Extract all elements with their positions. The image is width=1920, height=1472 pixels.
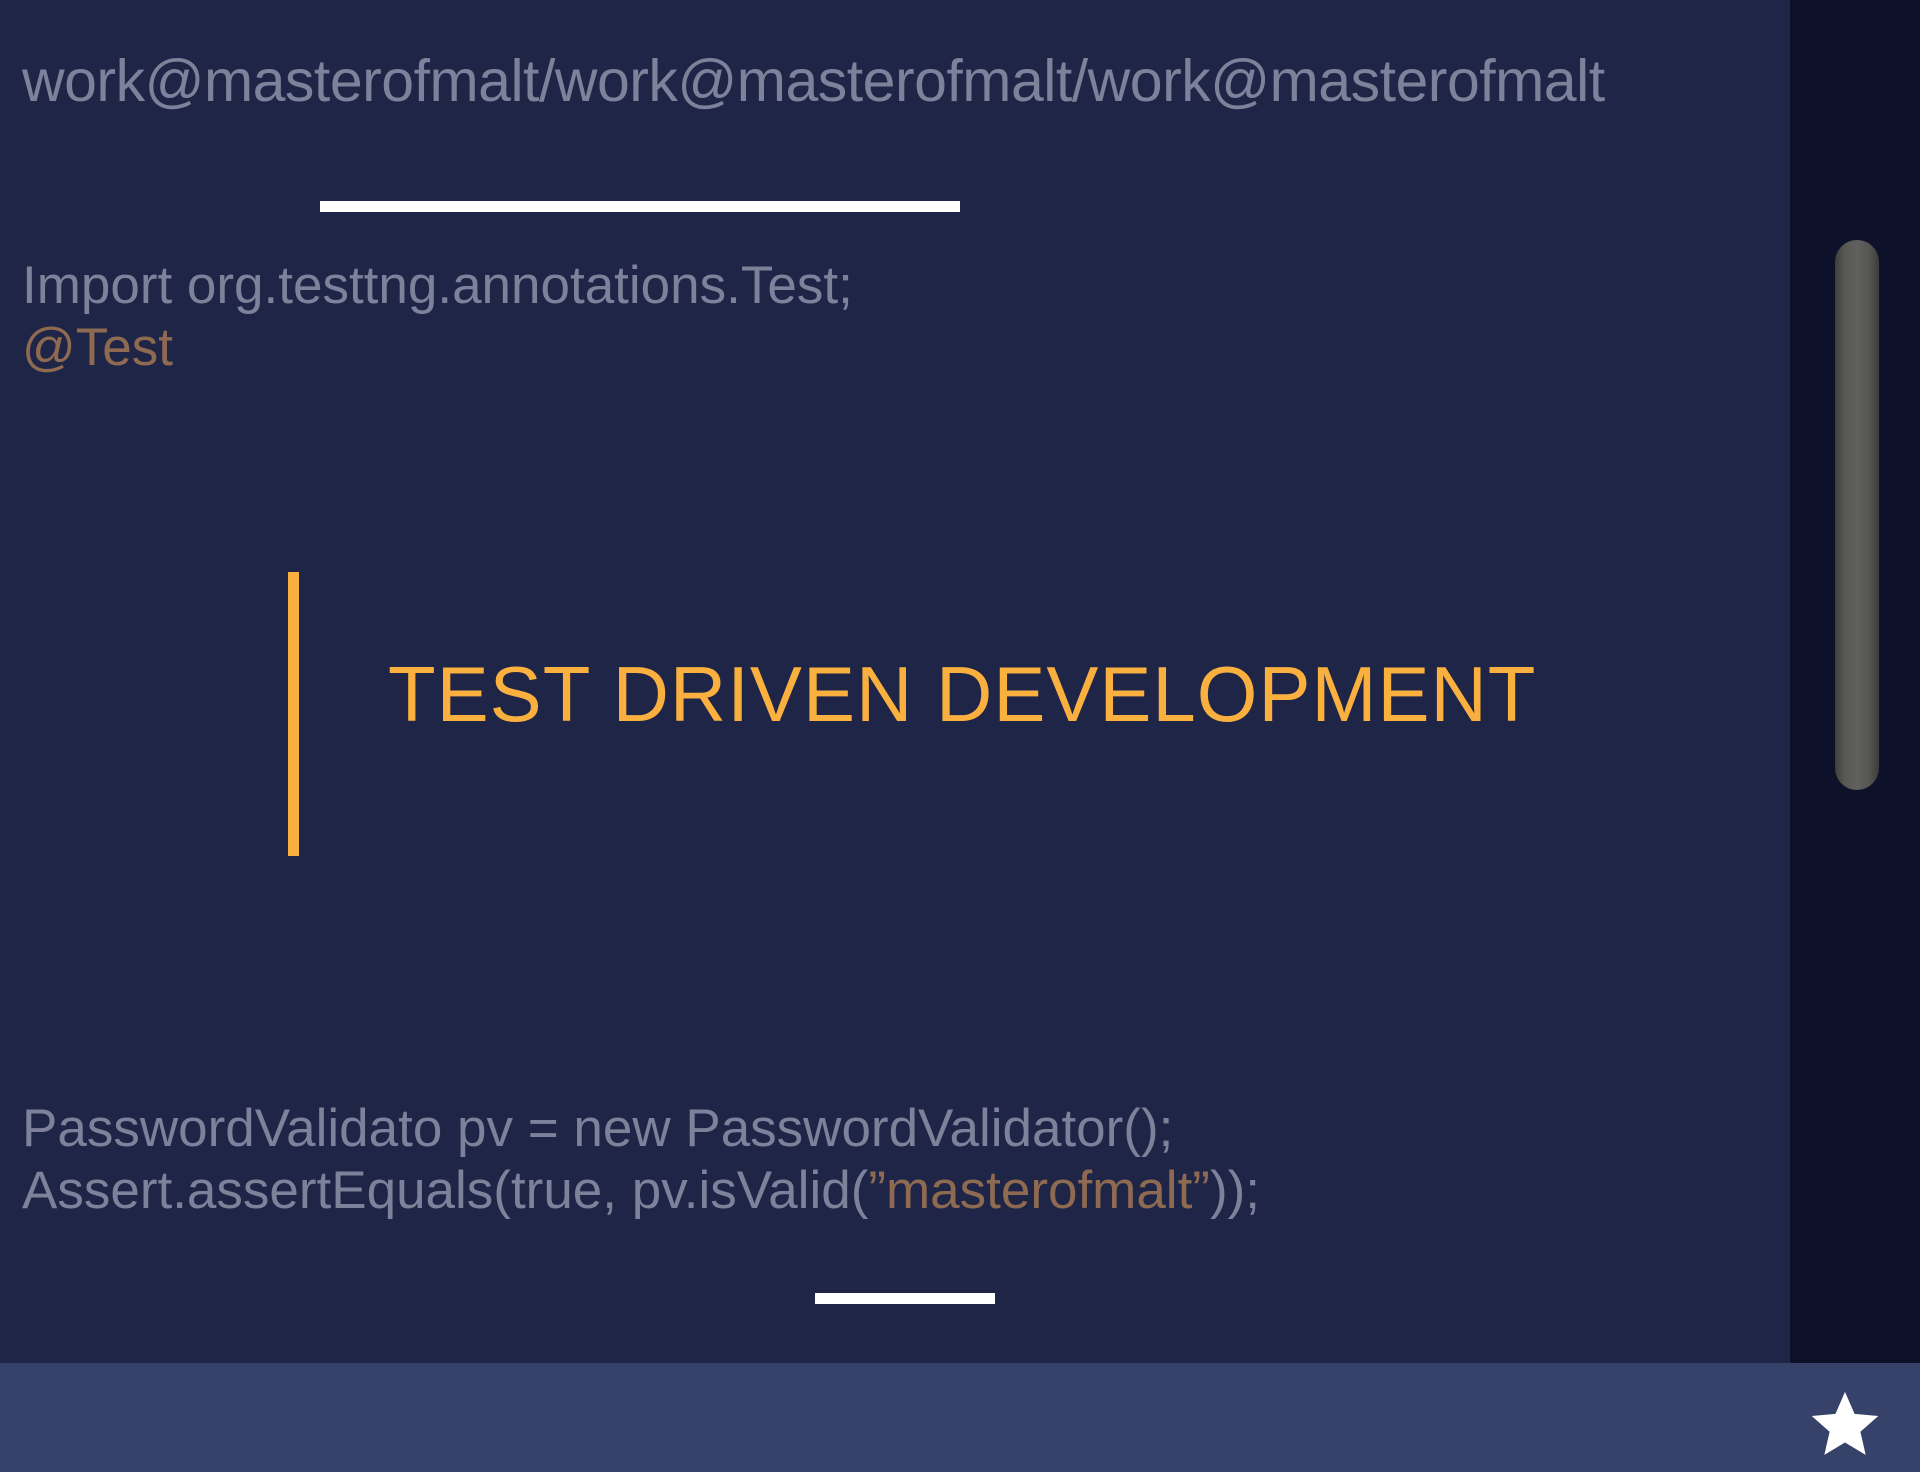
title-accent-bar	[288, 572, 299, 856]
code-assert-string: ”masterofmalt”	[868, 1161, 1210, 1220]
code-block-top: Import org.testtng.annotations.Test; @Te…	[22, 255, 853, 379]
slide-canvas: work@masterofmalt/work@masterofmalt/work…	[0, 0, 1790, 1363]
page-title: TEST DRIVEN DEVELOPMENT	[388, 655, 1536, 733]
code-block-bottom: PasswordValidato pv = new PasswordValida…	[22, 1098, 1260, 1222]
app-window: work@masterofmalt/work@masterofmalt/work…	[0, 0, 1920, 1472]
code-assert-prefix: Assert.assertEquals(true, pv.isValid(	[22, 1161, 868, 1220]
top-divider-rule	[320, 201, 960, 212]
slide-header-text: work@masterofmalt/work@masterofmalt/work…	[22, 52, 1782, 111]
code-line-declaration: PasswordValidato pv = new PasswordValida…	[22, 1098, 1260, 1160]
bottom-divider-rule	[815, 1293, 995, 1304]
code-line-import: Import org.testtng.annotations.Test;	[22, 255, 853, 317]
star-icon[interactable]	[1808, 1387, 1882, 1461]
code-line-annotation: @Test	[22, 317, 853, 379]
bottom-toolbar	[0, 1363, 1920, 1472]
code-line-assertion: Assert.assertEquals(true, pv.isValid(”ma…	[22, 1160, 1260, 1222]
vertical-scrollbar-thumb[interactable]	[1835, 240, 1879, 790]
code-assert-suffix: ));	[1210, 1161, 1260, 1220]
